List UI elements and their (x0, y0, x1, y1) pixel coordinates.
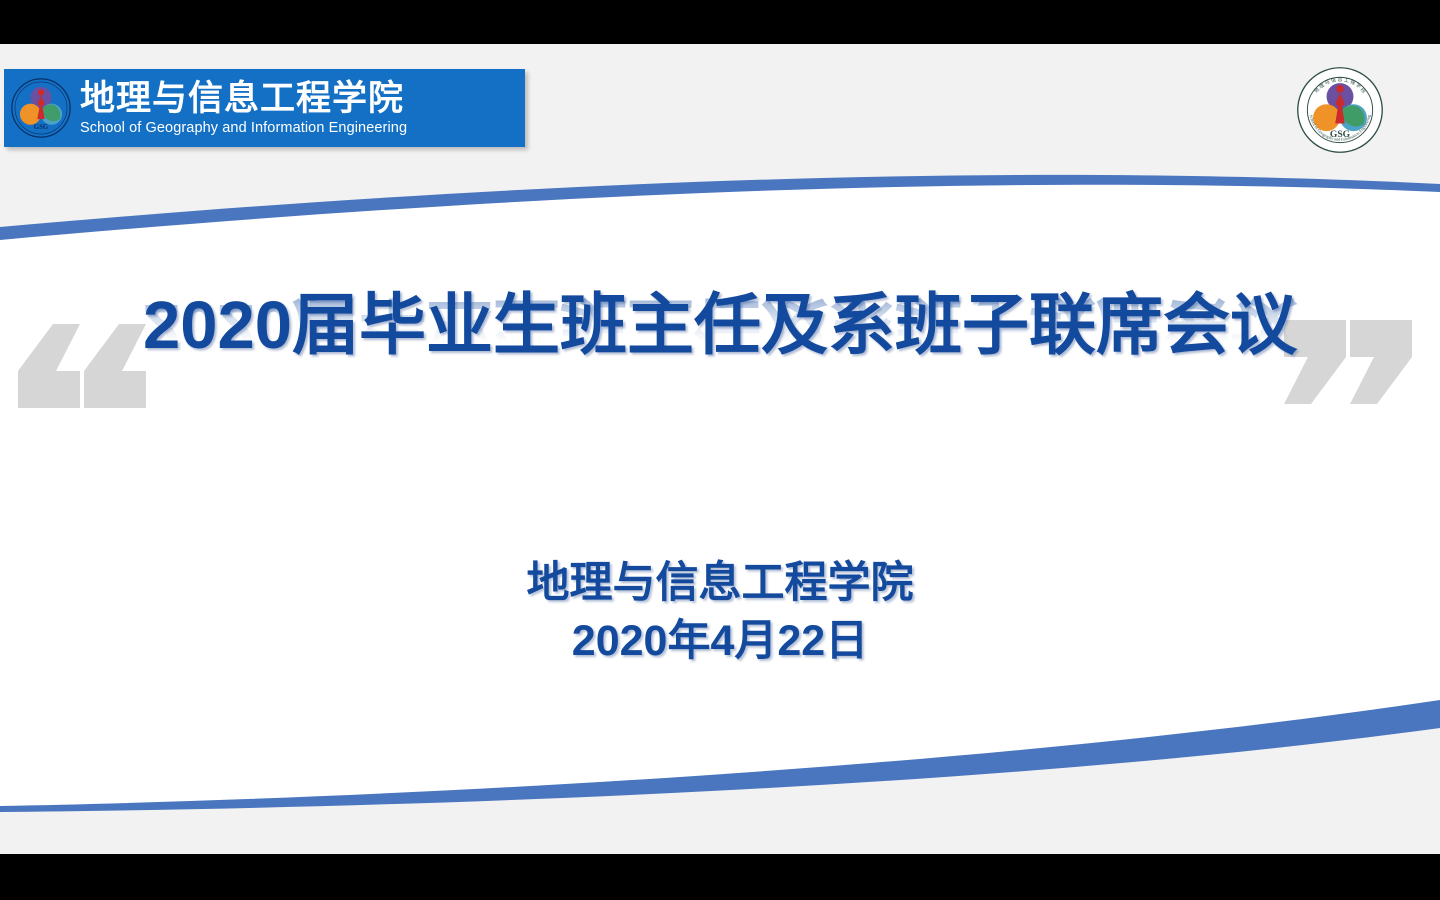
banner-name-cn: 地理与信息工程学院 (80, 81, 407, 116)
slide-background-decoration (0, 44, 1440, 854)
department-banner: GSG 地理与信息工程学院 School of Geography and In… (4, 69, 525, 147)
page-title-reflection: 2020届毕业生班主任及系班子联席会议 (0, 292, 1440, 362)
subtitle-organization: 地理与信息工程学院 (0, 554, 1440, 612)
bottom-gray-band (0, 700, 1440, 854)
banner-text-group: 地理与信息工程学院 School of Geography and Inform… (80, 81, 407, 136)
subtitle-date: 2020年4月22日 (0, 612, 1440, 670)
bottom-letterbox (0, 854, 1440, 900)
slide-subtitle-block: 地理与信息工程学院 2020年4月22日 (0, 554, 1440, 670)
svg-text:GSG: GSG (34, 124, 49, 131)
presentation-window: GSG 地理与信息工程学院 School of Geography and In… (0, 0, 1440, 900)
gsg-crest-icon: GSG 地 理 与 信 息 工 程 学 院 School of Geograph… (1292, 62, 1388, 158)
slide-title-block: 2020届毕业生班主任及系班子联席会议 2020届毕业生班主任及系班子联席会议 (0, 291, 1440, 431)
top-blue-swoosh (0, 175, 1440, 240)
gsg-crest-icon: GSG (10, 77, 72, 139)
bottom-blue-swoosh (0, 700, 1440, 812)
slide-canvas: GSG 地理与信息工程学院 School of Geography and In… (0, 44, 1440, 854)
banner-name-en: School of Geography and Information Engi… (80, 121, 407, 136)
